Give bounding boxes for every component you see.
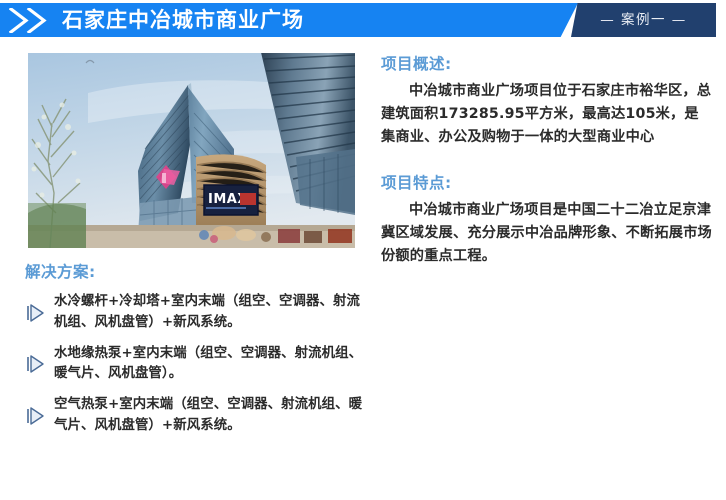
case-label: — 案例一 — [571,3,716,37]
project-photo: IMAX [28,53,355,248]
list-item: 空气热泵+室内末端（组空、空调器、射流机组、暖气片、风机盘管）+新风系统。 [22,395,367,437]
right-text-column: 项目概述: 中冶城市商业广场项目位于石家庄市裕华区，总建筑面积173285.95… [381,52,712,268]
page-header: 石家庄中冶城市商业广场 — 案例一 — [0,0,726,42]
solution-list: 水冷螺杆+冷却塔+室内末端（组空、空调器、射流机组、风机盘管）+新风系统。 水地… [22,292,367,437]
list-item-label: 空气热泵+室内末端（组空、空调器、射流机组、暖气片、风机盘管）+新风系统。 [54,395,367,437]
features-body: 中冶城市商业广场项目是中国二十二冶立足京津冀区域发展、充分展示中冶品牌形象、不断… [381,199,712,268]
double-chevron-right-icon [9,8,61,33]
solution-section: 解决方案: 水冷螺杆+冷却塔+室内末端（组空、空调器、射流机组、风机盘管）+新风… [22,260,367,447]
list-item: 水冷螺杆+冷却塔+室内末端（组空、空调器、射流机组、风机盘管）+新风系统。 [22,292,367,334]
list-item-label: 水冷螺杆+冷却塔+室内末端（组空、空调器、射流机组、风机盘管）+新风系统。 [54,292,367,334]
solution-heading: 解决方案: [25,260,367,282]
overview-body: 中冶城市商业广场项目位于石家庄市裕华区，总建筑面积173285.95平方米，最高… [381,80,712,149]
overview-heading: 项目概述: [381,52,712,74]
play-triangle-outline-icon [24,405,46,427]
list-item: 水地缘热泵+室内末端（组空、空调器、射流机组、暖气片、风机盘管）。 [22,344,367,386]
play-triangle-outline-icon [24,353,46,375]
features-heading: 项目特点: [381,171,712,193]
page-title: 石家庄中冶城市商业广场 [62,3,304,37]
project-photo-illustration: IMAX [28,53,355,248]
list-item-label: 水地缘热泵+室内末端（组空、空调器、射流机组、暖气片、风机盘管）。 [54,344,367,386]
play-triangle-outline-icon [24,302,46,324]
